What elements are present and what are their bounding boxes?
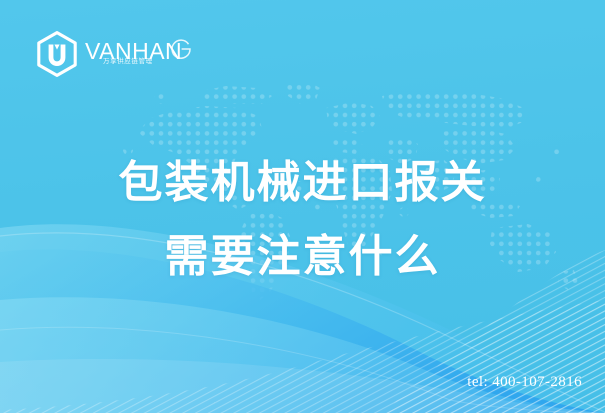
brand-logo[interactable]: VANHAN 万享供应链管理 [36,30,190,78]
wordmark-g-letter-icon [169,37,193,61]
promo-banner: VANHAN 万享供应链管理 包装机械进口报关 需要注意什么 tel: 400-… [0,0,605,413]
contact-phone[interactable]: tel: 400-107-2816 [467,374,582,391]
page-title: 包装机械进口报关 需要注意什么 [0,146,605,294]
brand-wordmark: VANHAN 万享供应链管理 [85,31,190,77]
hexagon-u-mark-icon [36,31,78,77]
page-title-line-1: 包装机械进口报关 [0,146,605,220]
brand-subtitle: 万享供应链管理 [103,58,153,65]
page-title-line-2: 需要注意什么 [0,220,605,294]
